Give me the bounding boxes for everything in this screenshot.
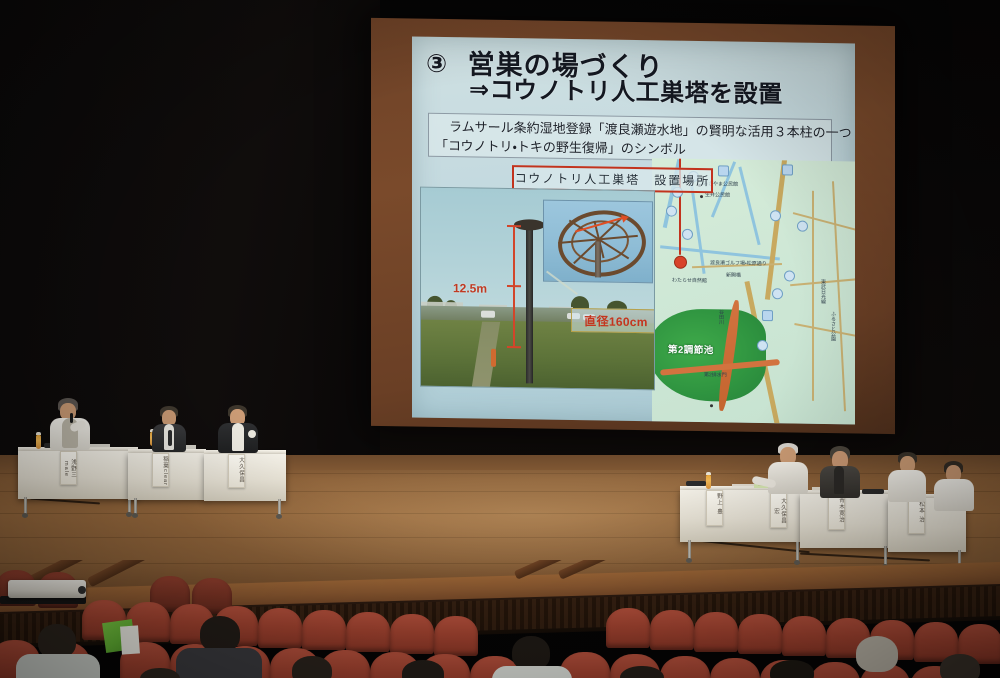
table-cloth <box>18 451 138 499</box>
map-poi-dot <box>710 404 713 407</box>
theater-seat[interactable] <box>710 658 760 678</box>
projector-lens-icon <box>78 586 86 594</box>
diameter-callout-box: 直径160cm <box>571 308 655 333</box>
audience-head <box>770 660 814 678</box>
equipment <box>686 481 706 486</box>
auditorium-seating <box>0 560 1000 678</box>
equipment <box>862 489 884 494</box>
nest-tower-pole <box>526 225 533 383</box>
placard-name: 野上 豊 <box>707 491 722 515</box>
shirt <box>934 479 974 511</box>
map-bridge-label: 新開橋 <box>726 271 741 278</box>
audience-paper <box>120 625 140 654</box>
theater-seat[interactable] <box>650 610 694 650</box>
jacket <box>768 462 808 494</box>
shirt <box>888 470 926 502</box>
audience-head <box>292 656 332 678</box>
water-bottle <box>36 435 41 449</box>
theater-seat[interactable] <box>782 616 826 656</box>
audience-head <box>200 616 240 652</box>
aisle-rail <box>558 560 638 580</box>
theater-seat[interactable] <box>302 610 346 650</box>
map-route-badge <box>757 340 768 351</box>
map-rail-label-2: ふるさと公園 <box>830 311 837 341</box>
table-wheel <box>22 513 28 518</box>
map-road <box>794 323 855 337</box>
map-route-badge <box>770 210 781 221</box>
photo-car <box>481 311 495 318</box>
name-placard: 野上 豊 <box>706 490 723 526</box>
projection-screen-frame: ③ 営巣の場づくり ⇒コウノトリ人工巣塔を設置 ラムサール条約湿地登録「渡良瀬遊… <box>371 18 895 434</box>
map-river <box>738 167 760 246</box>
audience-shoulders <box>176 648 262 678</box>
kimono-crest <box>248 430 256 438</box>
audience-head <box>856 636 898 672</box>
placard-name: 松本 治 <box>909 499 924 523</box>
map-basin-label: 第2調節池 <box>668 342 714 357</box>
theater-seat[interactable] <box>346 612 390 652</box>
map-route-badge <box>772 288 783 299</box>
location-map: 第2調節池 <box>652 158 855 424</box>
map-gate-label: 第2排水門 <box>704 371 727 378</box>
slide-subheading: ⇒コウノトリ人工巣塔を設置 <box>469 76 849 110</box>
theater-seat[interactable] <box>660 656 710 678</box>
theater-seat[interactable] <box>606 608 650 648</box>
map-location-marker <box>674 256 687 269</box>
name-placard: 松本 治 <box>908 498 925 534</box>
name-placard: 青木寛治 <box>828 494 845 530</box>
map-park-label: わたらせ自然館 <box>672 277 707 285</box>
map-river-label: 谷田川 <box>718 309 725 324</box>
map-route-badge <box>784 270 795 281</box>
nest-basket-inset <box>543 200 653 284</box>
map-poi-dot <box>700 195 703 198</box>
audience-shoulders <box>16 654 100 678</box>
water-bottle <box>706 475 711 489</box>
theater-seat[interactable] <box>738 614 782 654</box>
projection-screen-surface: ③ 営巣の場づくり ⇒コウノトリ人工巣塔を設置 ラムサール条約湿地登録「渡良瀬遊… <box>412 37 855 425</box>
hall-wall-left <box>0 0 380 470</box>
name-placard: 稲葉clear <box>152 453 169 487</box>
name-placard: 大久保昌宏 <box>770 492 787 528</box>
bottle-cap <box>706 472 711 475</box>
placard-name: 大久保昌宏 <box>771 493 786 527</box>
theater-seat[interactable] <box>390 614 434 654</box>
height-measure-cap <box>507 225 521 227</box>
table-cloth <box>800 494 892 548</box>
shirt <box>834 466 844 494</box>
necktie <box>168 430 172 446</box>
placard-name: 大久保昌 <box>229 455 244 483</box>
microphone <box>70 413 73 423</box>
name-placard: 浅野三male <box>60 451 77 485</box>
height-measure-tick <box>507 285 521 287</box>
placard-name: 青木寛治 <box>829 495 844 523</box>
nest-tower-photo: 12.5m <box>420 187 655 391</box>
placard-name: 浅野三male <box>61 452 76 484</box>
bottle-cap <box>36 432 41 435</box>
map-route-badge <box>682 229 693 240</box>
height-measure-cap <box>507 346 521 348</box>
auditorium-scene: ③ 営巣の場づくり ⇒コウノトリ人工巣塔を設置 ラムサール条約湿地登録「渡良瀬遊… <box>0 0 1000 678</box>
table-wheel <box>132 513 138 518</box>
slide-content: ③ 営巣の場づくり ⇒コウノトリ人工巣塔を設置 ラムサール条約湿地登録「渡良瀬遊… <box>412 37 855 425</box>
table-cloth <box>204 454 286 501</box>
map-route-badge <box>718 165 729 176</box>
audience-head <box>38 624 76 658</box>
map-road-label: 渡良瀬ゴルフ場・松原通り <box>710 259 767 267</box>
audience-head <box>402 660 444 678</box>
nest-support-post <box>595 241 601 277</box>
tower-height-label: 12.5m <box>453 281 487 296</box>
map-road <box>832 181 846 411</box>
audience-head <box>512 636 550 670</box>
diameter-label: 直径160cm <box>584 312 647 330</box>
theater-seat[interactable] <box>810 662 860 678</box>
name-placard: 大久保昌 <box>228 454 245 488</box>
theater-seat[interactable] <box>694 612 738 652</box>
projector <box>8 580 86 598</box>
theater-seat[interactable] <box>258 608 302 648</box>
table-leg <box>796 542 799 562</box>
map-route-badge <box>666 206 677 217</box>
map-road <box>812 191 814 401</box>
audience-head <box>940 654 980 678</box>
map-title-text: コウノトリ人工巣塔 設置場所 <box>515 171 711 188</box>
map-river <box>689 179 705 274</box>
photo-person <box>491 349 496 367</box>
map-rail-label: 東武日光線 <box>820 279 827 304</box>
map-route-badge <box>797 221 808 232</box>
slide-caption-box: ラムサール条約湿地登録「渡良瀬遊水地」の賢明な活用３本柱の一つ 「コウノトリ・ト… <box>428 113 832 163</box>
table-leg <box>688 540 691 560</box>
papers <box>88 444 110 448</box>
kimono-collar <box>232 423 244 451</box>
theater-seat[interactable] <box>434 616 478 656</box>
table-wheel <box>276 514 282 519</box>
slide-number-marker: ③ <box>426 49 447 79</box>
map-route-badge <box>762 310 773 321</box>
placard-name: 稲葉clear <box>153 454 168 486</box>
map-route-badge <box>782 164 793 175</box>
audience-shoulders <box>492 666 572 678</box>
